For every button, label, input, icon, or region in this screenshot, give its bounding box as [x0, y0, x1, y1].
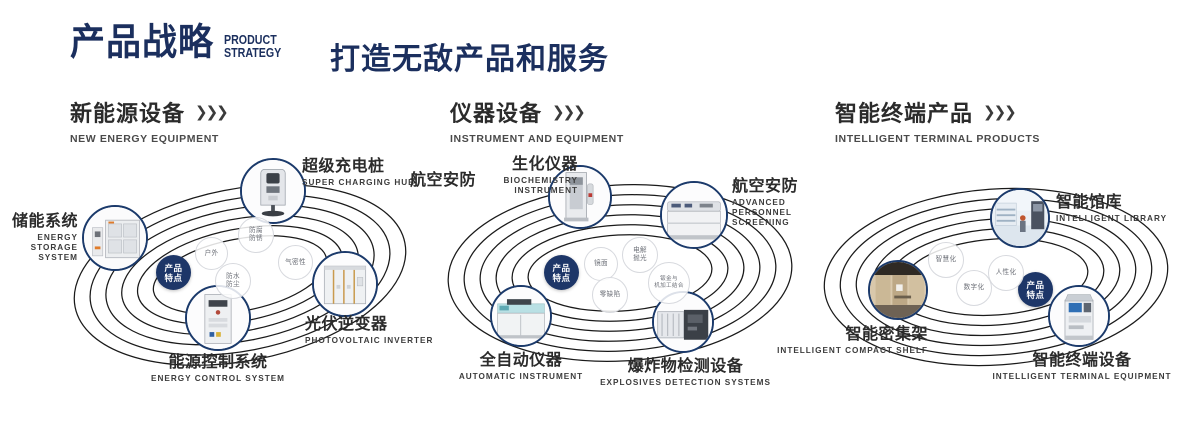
section-title-instrument-and-equipment: 仪器设备 ❯❯❯ INSTRUMENT AND EQUIPMENT — [450, 96, 624, 145]
pv-inverter-cabinet-icon — [314, 253, 376, 315]
node-intelligent-compact-shelf[interactable] — [868, 260, 928, 320]
badge-line2: 特点 — [164, 273, 182, 283]
cluster-new-energy-equipment: 储能系统 ENERGY STORAGE SYSTEM 超级充电桩 SUPER C… — [40, 155, 440, 405]
label-intelligent-library: 智能馆库 INTELLIGENT LIBRARY — [1056, 193, 1167, 224]
section-title-en: NEW ENERGY EQUIPMENT — [70, 133, 227, 145]
label-intelligent-compact-shelf: 智能密集架 INTELLIGENT COMPACT SHELF — [738, 325, 928, 356]
node-intelligent-terminal-equipment[interactable] — [1048, 285, 1110, 347]
label-super-charging-hub: 超级充电桩 SUPER CHARGING HUB — [302, 157, 415, 188]
label-en: ENERGY STORAGE SYSTEM — [0, 233, 78, 263]
label-cn: 爆炸物检测设备 — [588, 357, 783, 376]
label-cn: 光伏逆变器 — [305, 315, 433, 334]
feature-bubble-3: 防水 防尘 — [215, 263, 251, 299]
badge-line2: 特点 — [552, 273, 570, 283]
cluster-intelligent-terminal-products: 智能馆库 INTELLIGENT LIBRARY 智能密集架 INTELLIGE… — [800, 155, 1200, 405]
feature-bubble-1: 镜面 — [584, 247, 618, 281]
feature-bubble-4: 钣金与 机加工结合 — [648, 262, 690, 304]
node-photovoltaic-inverter[interactable] — [312, 251, 378, 317]
badge-line1: 产品 — [164, 263, 182, 273]
label-en: PHOTOVOLTAIC INVERTER — [305, 336, 433, 346]
label-energy-control-system: 能源控制系统 ENERGY CONTROL SYSTEM — [118, 353, 318, 384]
poster-title-en: PRODUCT STRATEGY — [224, 33, 281, 59]
label-cn: 能源控制系统 — [118, 353, 318, 372]
node-advanced-personnel-screening[interactable] — [660, 181, 728, 249]
poster-canvas: 产品战略 PRODUCT STRATEGY 打造无敌产品和服务 新能源设备 ❯❯… — [0, 0, 1200, 422]
label-en: SUPER CHARGING HUB — [302, 178, 415, 188]
node-energy-storage-system[interactable] — [82, 205, 148, 271]
compact-shelf-icon — [870, 262, 926, 318]
section-title-new-energy-equipment: 新能源设备 ❯❯❯ NEW ENERGY EQUIPMENT — [70, 96, 227, 145]
section-title-cn: 智能终端产品 ❯❯❯ — [835, 96, 1040, 128]
section-title-cn-text: 新能源设备 — [70, 96, 185, 128]
feature-bubble-2: 数字化 — [956, 270, 992, 306]
label-en: INTELLIGENT TERMINAL EQUIPMENT — [982, 372, 1182, 382]
feature-bubble-2: 防腐 防锈 — [238, 217, 274, 253]
section-title-cn: 仪器设备 ❯❯❯ — [450, 96, 624, 128]
energy-storage-cabinet-icon — [84, 207, 146, 269]
node-intelligent-library[interactable] — [990, 188, 1050, 248]
node-automatic-instrument[interactable] — [490, 285, 552, 347]
badge-line1: 产品 — [1026, 280, 1044, 290]
automatic-analyzer-icon — [492, 287, 550, 345]
product-features-badge[interactable]: 产品 特点 — [544, 255, 579, 290]
chevron-right-icon: ❯❯❯ — [195, 103, 227, 121]
section-title-en: INSTRUMENT AND EQUIPMENT — [450, 133, 624, 145]
label-intelligent-terminal-equipment: 智能终端设备 INTELLIGENT TERMINAL EQUIPMENT — [982, 351, 1182, 382]
poster-header: 产品战略 PRODUCT STRATEGY — [70, 26, 294, 61]
badge-line1: 产品 — [552, 263, 570, 273]
section-title-cn-text: 仪器设备 — [450, 96, 542, 128]
poster-title-cn: 产品战略 — [70, 24, 214, 61]
feature-bubble-1: 智慧化 — [928, 242, 964, 278]
label-cn: 超级充电桩 — [302, 157, 415, 176]
chevron-right-icon: ❯❯❯ — [983, 103, 1015, 121]
label-en: INTELLIGENT COMPACT SHELF — [738, 346, 928, 356]
label-en: INTELLIGENT LIBRARY — [1056, 214, 1167, 224]
label-aviation-security: 航空安防 — [410, 171, 476, 190]
product-features-badge[interactable]: 产品 特点 — [156, 255, 191, 290]
screening-machine-icon — [662, 183, 726, 247]
label-energy-storage-system: 储能系统 ENERGY STORAGE SYSTEM — [0, 212, 78, 263]
node-super-charging-hub[interactable] — [240, 158, 306, 224]
badge-line2: 特点 — [1026, 290, 1044, 300]
label-cn: 智能密集架 — [738, 325, 928, 344]
feature-bubble-2: 电解 抛光 — [622, 237, 658, 273]
feature-bubble-4: 气密性 — [278, 245, 313, 280]
label-cn: 智能终端设备 — [982, 351, 1182, 370]
section-title-en: INTELLIGENT TERMINAL PRODUCTS — [835, 133, 1040, 145]
label-en: BIOCHEMISTRY INSTRUMENT — [468, 176, 578, 196]
feature-bubble-3: 零缺陷 — [592, 277, 628, 313]
poster-subtitle: 打造无敌产品和服务 — [330, 34, 609, 78]
poster-title-en-line2: STRATEGY — [224, 46, 281, 59]
library-room-icon — [992, 190, 1048, 246]
label-en: ENERGY CONTROL SYSTEM — [118, 374, 318, 384]
section-title-cn: 新能源设备 ❯❯❯ — [70, 96, 227, 128]
label-cn: 智能馆库 — [1056, 193, 1167, 212]
section-title-intelligent-terminal-products: 智能终端产品 ❯❯❯ INTELLIGENT TERMINAL PRODUCTS — [835, 96, 1040, 145]
charging-pile-icon — [242, 160, 304, 222]
feature-bubble-3: 人性化 — [988, 255, 1024, 291]
label-explosives-detection-systems: 爆炸物检测设备 EXPLOSIVES DETECTION SYSTEMS — [588, 357, 783, 388]
label-en: EXPLOSIVES DETECTION SYSTEMS — [588, 378, 783, 388]
label-cn: 储能系统 — [0, 212, 78, 231]
chevron-right-icon: ❯❯❯ — [552, 103, 584, 121]
self-service-kiosk-icon — [1050, 287, 1108, 345]
label-cn: 航空安防 — [410, 171, 476, 190]
cluster-instrument-and-equipment: 航空安防 生化仪器 BIOCHEMISTRY INSTRUMENT 航空安防 A… — [420, 155, 820, 405]
label-photovoltaic-inverter: 光伏逆变器 PHOTOVOLTAIC INVERTER — [305, 315, 433, 346]
section-title-cn-text: 智能终端产品 — [835, 96, 973, 128]
label-cn: 生化仪器 — [468, 155, 578, 174]
label-biochemistry-instrument: 生化仪器 BIOCHEMISTRY INSTRUMENT — [468, 155, 578, 196]
